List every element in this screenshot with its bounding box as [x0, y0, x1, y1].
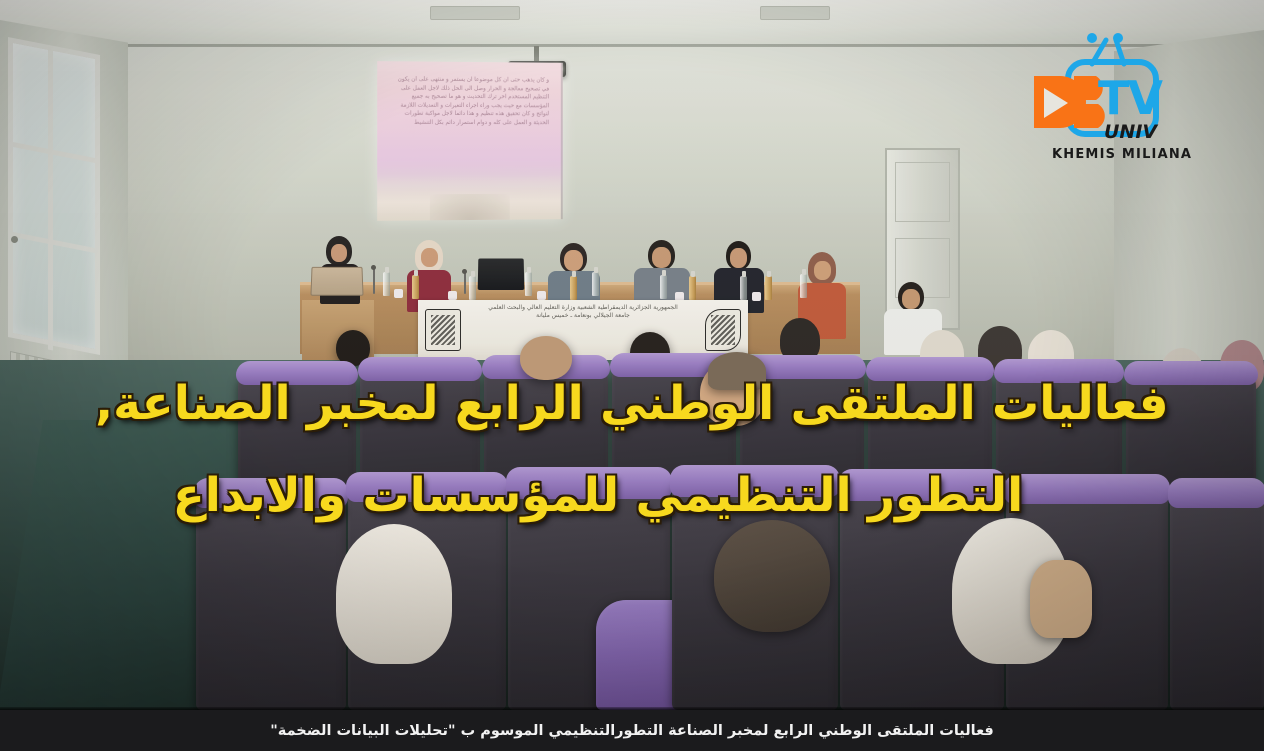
- screen-shadow: [429, 194, 510, 221]
- cup: [537, 291, 546, 300]
- logo-location-text: KHEMIS MILIANA: [1052, 147, 1192, 162]
- water-bottle: [469, 276, 476, 300]
- microphone-head: [462, 269, 467, 274]
- overlay-title-line-2: التطور التنظيمي للمؤسسات والابداع: [0, 450, 1264, 542]
- audience-headscarf: [336, 524, 452, 664]
- microphone: [464, 272, 466, 294]
- door-panel: [895, 162, 950, 222]
- window-mullion: [48, 50, 53, 351]
- water-bottle: [660, 275, 667, 299]
- water-bottle: [525, 272, 532, 296]
- audience-head: [1030, 560, 1092, 638]
- ceiling-vent: [430, 6, 520, 20]
- juice-bottle: [570, 276, 577, 300]
- juice-bottle: [412, 275, 419, 299]
- water-bottle: [592, 272, 599, 296]
- juice-bottle: [689, 276, 696, 300]
- microphone-head: [371, 265, 376, 270]
- microphone: [373, 268, 375, 294]
- video-player-frame: و كان يذهب حتى ان كل موضوعا ان يستمر و م…: [0, 0, 1264, 751]
- caption-bar: فعاليات الملتقى الوطني الرابع لمخبر الصن…: [0, 710, 1264, 751]
- door-knob: [11, 236, 18, 243]
- cup: [448, 291, 457, 300]
- caption-text: فعاليات الملتقى الوطني الرابع لمخبر الصن…: [270, 723, 994, 739]
- banner-text: الجمهورية الجزائرية الديمقراطية الشعبية …: [484, 304, 682, 320]
- channel-logo: TV UNIV KHEMIS MILIANA: [1012, 28, 1212, 166]
- water-bottle: [800, 274, 807, 298]
- water-bottle: [383, 272, 390, 296]
- window: [8, 37, 100, 355]
- ministry-emblem-icon: [425, 309, 461, 351]
- juice-bottle: [765, 276, 772, 300]
- projection-screen: و كان يذهب حتى ان كل موضوعا ان يستمر و م…: [377, 61, 563, 221]
- laptop: [310, 267, 363, 296]
- ceiling-vent: [760, 6, 830, 20]
- cup: [752, 292, 761, 301]
- laptop: [478, 258, 525, 290]
- svg-text:TV: TV: [1098, 71, 1163, 125]
- cup: [394, 289, 403, 298]
- university-emblem-icon: [705, 309, 741, 351]
- video-title-overlay: فعاليات الملتقى الوطني الرابع لمخبر الصن…: [0, 358, 1264, 542]
- logo-tv-text: TV: [1098, 71, 1163, 125]
- water-bottle: [740, 276, 747, 300]
- projected-slide-text: و كان يذهب حتى ان كل موضوعا ان يستمر و م…: [398, 75, 550, 127]
- overlay-title-line-1: فعاليات الملتقى الوطني الرابع لمخبر الصن…: [0, 358, 1264, 450]
- logo-univ-text: UNIV: [1104, 121, 1158, 143]
